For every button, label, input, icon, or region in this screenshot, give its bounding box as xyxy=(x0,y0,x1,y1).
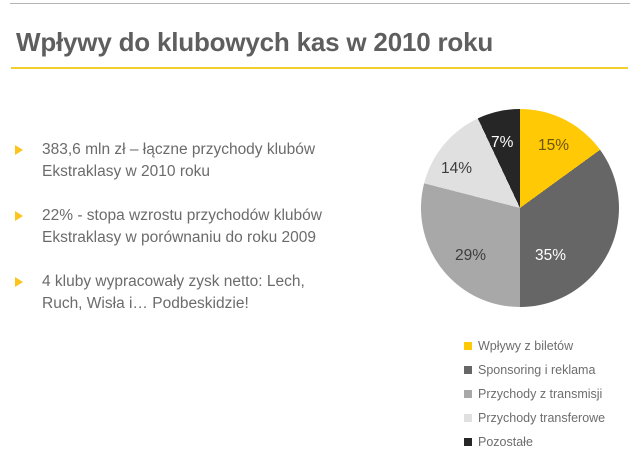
top-divider xyxy=(10,3,630,4)
legend-color-swatch xyxy=(464,390,472,398)
legend-item-przychody-z-transmisji: Przychody z transmisji xyxy=(464,382,636,406)
pie-slice-label: 14% xyxy=(441,161,472,177)
triangle-right-icon xyxy=(15,211,23,221)
list-item-text: 383,6 mln zł – łączne przychody klubów E… xyxy=(42,139,410,183)
title-underline-rule xyxy=(11,67,628,69)
list-item: 383,6 mln zł – łączne przychody klubów E… xyxy=(10,139,410,183)
legend-color-swatch xyxy=(464,438,472,446)
legend-item-label: Wpływy z biletów xyxy=(478,339,573,353)
legend-item-przychody-transferowe: Przychody transferowe xyxy=(464,406,636,430)
triangle-right-icon xyxy=(15,277,23,287)
legend-item-label: Przychody transferowe xyxy=(478,411,605,425)
list-item-text: 22% - stopa wzrostu przychodów klubów Ek… xyxy=(42,205,410,249)
legend-item-label: Pozostałe xyxy=(478,435,533,449)
legend-color-swatch xyxy=(464,342,472,350)
page-title: Wpływy do klubowych kas w 2010 roku xyxy=(16,26,626,58)
legend-item-label: Przychody z transmisji xyxy=(478,387,602,401)
list-item-text: 4 kluby wypracowały zysk netto: Lech, Ru… xyxy=(42,271,410,315)
list-item: 22% - stopa wzrostu przychodów klubów Ek… xyxy=(10,205,410,249)
pie-slice-label: 29% xyxy=(455,248,486,264)
bullet-list: 383,6 mln zł – łączne przychody klubów E… xyxy=(10,139,410,315)
chart-legend: Wpływy z biletów Sponsoring i reklama Pr… xyxy=(464,334,636,454)
pie-surface xyxy=(421,109,619,307)
triangle-right-icon xyxy=(15,145,23,155)
legend-color-swatch xyxy=(464,366,472,374)
legend-item-pozostale: Pozostałe xyxy=(464,430,636,454)
pie-slice-label: 15% xyxy=(538,138,569,154)
pie-chart: 15% 35% 29% 14% 7% xyxy=(421,109,619,307)
pie-slice-label: 7% xyxy=(491,135,513,151)
list-item: 4 kluby wypracowały zysk netto: Lech, Ru… xyxy=(10,271,410,315)
pie-slice-label: 35% xyxy=(535,248,566,264)
legend-item-wplywy-z-biletow: Wpływy z biletów xyxy=(464,334,636,358)
legend-color-swatch xyxy=(464,414,472,422)
legend-item-label: Sponsoring i reklama xyxy=(478,363,595,377)
legend-item-sponsoring-i-reklama: Sponsoring i reklama xyxy=(464,358,636,382)
